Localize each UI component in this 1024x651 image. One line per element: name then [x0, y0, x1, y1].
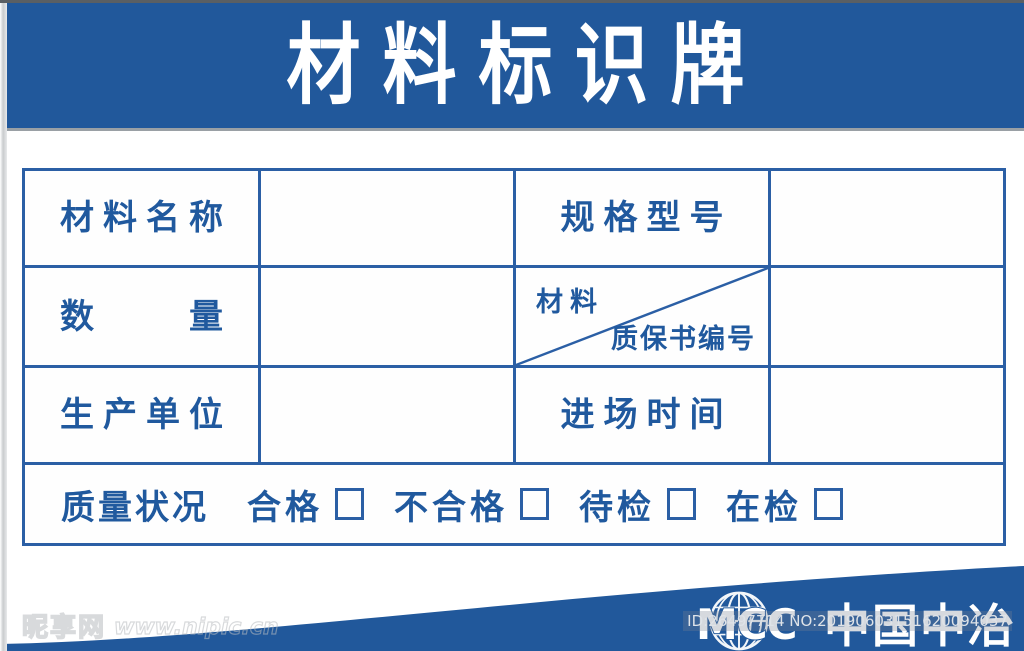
cell-label-quantity: 数 量	[25, 268, 261, 365]
label-manufacturer: 生产单位	[51, 398, 232, 432]
stock-watermark-url: www.nipic.cn	[114, 617, 279, 639]
cell-value-spec-model[interactable]	[771, 171, 1003, 265]
cell-value-quantity[interactable]	[261, 268, 516, 365]
table-row: 数 量 材料 质保书编号	[25, 268, 1003, 368]
label-quantity: 数 量	[51, 300, 232, 334]
label-quality-status: 质量状况	[61, 480, 209, 529]
quality-option-label: 不合格	[390, 480, 508, 529]
page-top-edge	[0, 0, 1024, 3]
page-left-edge	[0, 0, 7, 651]
table-row-quality-status: 质量状况 合格 不合格 待检 在检	[25, 465, 1003, 543]
label-material-name: 材料名称	[51, 201, 232, 235]
material-sign-board: 材料标识牌 材料名称 规格型号 数 量	[0, 0, 1024, 651]
quality-option-pending-inspection[interactable]: 待检	[575, 480, 696, 529]
label-spec-model: 规格型号	[552, 201, 733, 235]
stock-watermark-name: 昵享网	[22, 615, 106, 641]
cell-label-material-name: 材料名称	[25, 171, 261, 265]
cell-label-arrival-time: 进场时间	[516, 368, 771, 462]
label-arrival-time: 进场时间	[552, 398, 733, 432]
page-title: 材料标识牌	[265, 22, 767, 109]
cell-label-material-certificate: 材料 质保书编号	[516, 268, 771, 365]
cell-value-arrival-time[interactable]	[771, 368, 1003, 462]
quality-option-label: 在检	[722, 480, 802, 529]
quality-option-under-inspection[interactable]: 在检	[722, 480, 843, 529]
quality-option-label: 合格	[243, 480, 323, 529]
label-certificate-number: 质保书编号	[611, 317, 756, 356]
checkbox-under-inspection[interactable]	[814, 488, 843, 520]
sign-table: 材料名称 规格型号 数 量 材料	[22, 168, 1006, 546]
label-material: 材料	[536, 280, 604, 319]
quality-option-label: 待检	[575, 480, 655, 529]
checkbox-qualified[interactable]	[335, 488, 364, 520]
header-banner: 材料标识牌	[7, 3, 1024, 128]
id-watermark: ID:26497714 NO:20190603151620094037	[683, 611, 1012, 631]
stock-watermark: 昵享网 www.nipic.cn	[22, 615, 279, 641]
table-row: 材料名称 规格型号	[25, 171, 1003, 268]
cell-value-manufacturer[interactable]	[261, 368, 516, 462]
quality-option-unqualified[interactable]: 不合格	[390, 480, 549, 529]
quality-option-qualified[interactable]: 合格	[243, 480, 364, 529]
header-underline	[7, 128, 1024, 131]
checkbox-pending-inspection[interactable]	[667, 488, 696, 520]
cell-label-spec-model: 规格型号	[516, 171, 771, 265]
table-row: 生产单位 进场时间	[25, 368, 1003, 465]
cell-value-material-name[interactable]	[261, 171, 516, 265]
checkbox-unqualified[interactable]	[520, 488, 549, 520]
quality-status-group: 质量状况 合格 不合格 待检 在检	[25, 465, 869, 543]
cell-label-manufacturer: 生产单位	[25, 368, 261, 462]
cell-value-material-certificate[interactable]	[771, 268, 1003, 365]
